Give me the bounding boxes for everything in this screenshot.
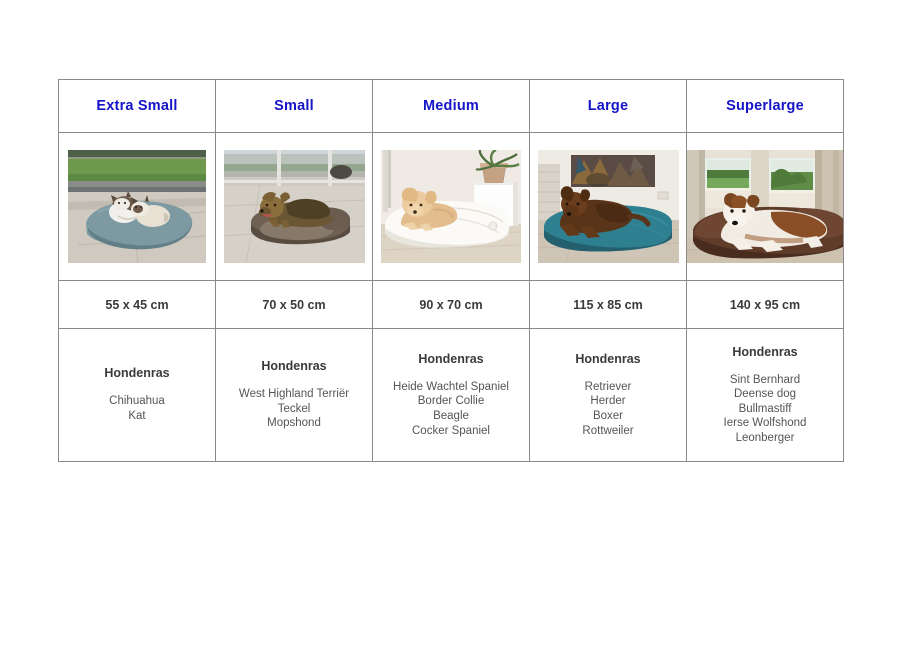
dimension-cell-extra-small: 55 x 45 cm [59,281,216,329]
breed-item: Border Collie [373,394,529,409]
dimension-value: 55 x 45 cm [105,298,168,312]
breed-heading: Hondenras [59,366,215,380]
dimension-value: 115 x 85 cm [573,298,643,312]
dimension-cell-small: 70 x 50 cm [216,281,373,329]
table-dimension-row: 55 x 45 cm 70 x 50 cm 90 x 70 cm 115 x 8… [59,281,844,329]
photo-wrap [530,133,686,280]
cockapoo-on-white-dog-bed-photo [381,150,521,263]
breed-cell-extra-small: Hondenras Chihuahua Kat [59,329,216,462]
breed-item: Boxer [530,409,686,424]
photo-cell-medium [373,133,530,281]
breed-item: Herder [530,394,686,409]
breed-list-extra-small: Chihuahua Kat [59,394,215,423]
dimension-cell-medium: 90 x 70 cm [373,281,530,329]
breed-item: Leonberger [687,431,843,446]
header-cell-extra-small: Extra Small [59,80,216,133]
header-cell-medium: Medium [373,80,530,133]
photo-cell-extra-small [59,133,216,281]
photo-large [538,150,679,263]
breed-item: Cocker Spaniel [373,424,529,439]
saint-bernard-on-brown-leather-dog-bed-photo [687,150,843,263]
breed-item: Ierse Wolfshond [687,416,843,431]
breed-item: Mopshond [216,416,372,431]
photo-wrap [59,133,215,280]
header-cell-superlarge: Superlarge [687,80,844,133]
table-header-row: Extra Small Small Medium Large Superlarg… [59,80,844,133]
photo-wrap [216,133,372,280]
breed-list-small: West Highland Terriër Teckel Mopshond [216,387,372,431]
dog-bed-size-chart-table: Extra Small Small Medium Large Superlarg… [58,79,844,462]
breed-item: Sint Bernhard [687,373,843,388]
table-photo-row [59,133,844,281]
photo-wrap [687,133,843,280]
breed-item: Retriever [530,380,686,395]
photo-superlarge [687,150,843,263]
dimension-value: 90 x 70 cm [419,298,482,312]
breed-item: West Highland Terriër [216,387,372,402]
breed-list-large: Retriever Herder Boxer Rottweiler [530,380,686,438]
breed-cell-superlarge: Hondenras Sint Bernhard Deense dog Bullm… [687,329,844,462]
breed-item: Kat [59,409,215,424]
dimension-value: 140 x 95 cm [730,298,800,312]
breed-heading: Hondenras [687,345,843,359]
header-cell-large: Large [530,80,687,133]
breed-item: Beagle [373,409,529,424]
photo-medium [381,150,521,263]
breed-cell-large: Hondenras Retriever Herder Boxer Rottwei… [530,329,687,462]
header-label: Extra Small [96,98,177,114]
breed-item: Chihuahua [59,394,215,409]
header-label: Large [588,98,629,114]
breed-item: Bullmastiff [687,402,843,417]
breed-list-superlarge: Sint Bernhard Deense dog Bullmastiff Ier… [687,373,843,446]
breed-item: Deense dog [687,387,843,402]
breed-item: Heide Wachtel Spaniel [373,380,529,395]
header-cell-small: Small [216,80,373,133]
breed-heading: Hondenras [373,352,529,366]
photo-cell-small [216,133,373,281]
header-label: Superlarge [726,98,804,114]
table-breed-row: Hondenras Chihuahua Kat Hondenras West H… [59,329,844,462]
dimension-value: 70 x 50 cm [262,298,325,312]
chocolate-labrador-on-teal-dog-bed-photo [538,150,679,263]
photo-small [224,150,365,263]
photo-wrap [373,133,529,280]
header-label: Small [274,98,314,114]
small-terrier-on-brown-leather-dog-bed-photo [224,150,365,263]
breed-cell-medium: Hondenras Heide Wachtel Spaniel Border C… [373,329,530,462]
dimension-cell-superlarge: 140 x 95 cm [687,281,844,329]
breed-list-medium: Heide Wachtel Spaniel Border Collie Beag… [373,380,529,438]
breed-item: Rottweiler [530,424,686,439]
breed-heading: Hondenras [530,352,686,366]
photo-cell-large [530,133,687,281]
photo-extra-small [68,150,206,263]
photo-cell-superlarge [687,133,844,281]
two-cats-on-blue-grey-dog-bed-photo [68,150,206,263]
breed-cell-small: Hondenras West Highland Terriër Teckel M… [216,329,373,462]
breed-item: Teckel [216,402,372,417]
header-label: Medium [423,98,479,114]
dimension-cell-large: 115 x 85 cm [530,281,687,329]
breed-heading: Hondenras [216,359,372,373]
